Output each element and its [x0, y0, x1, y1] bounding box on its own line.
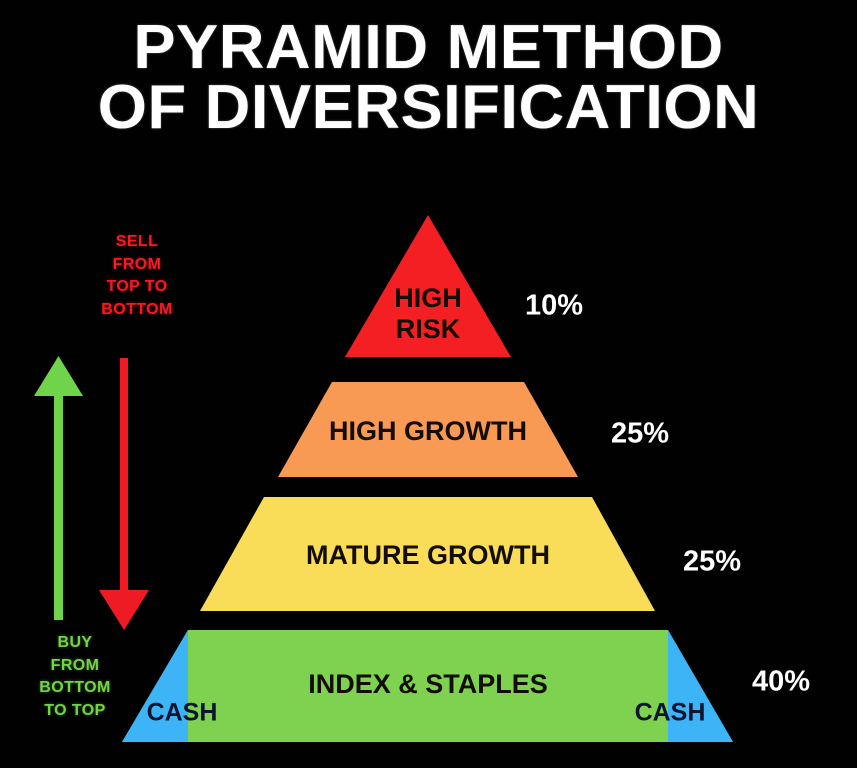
- tier-label-high-growth: HIGH GROWTH: [329, 416, 527, 446]
- tier-percent-index-staples: 40%: [752, 666, 810, 698]
- pyramid-tier-mature-growth[interactable]: MATURE GROWTH 25%: [200, 497, 741, 611]
- tier-percent-high-risk: 10%: [525, 290, 583, 322]
- cash-label-left: CASH: [147, 699, 218, 727]
- cash-label-right: CASH: [635, 699, 706, 727]
- tier-label-index-staples: INDEX & STAPLES: [308, 669, 548, 699]
- tier-percent-high-growth: 25%: [611, 418, 669, 450]
- tier-label-mature-growth: MATURE GROWTH: [306, 540, 550, 570]
- tier-label-high-risk-line-2: RISK: [396, 314, 461, 344]
- pyramid-tier-high-growth[interactable]: HIGH GROWTH 25%: [278, 382, 669, 477]
- pyramid-tier-high-risk[interactable]: HIGH RISK 10%: [345, 215, 583, 357]
- pyramid-tier-index-staples[interactable]: INDEX & STAPLES CASH CASH 40%: [122, 630, 810, 742]
- tier-label-high-risk-line-1: HIGH: [394, 283, 462, 313]
- pyramid-chart: HIGH RISK 10% HIGH GROWTH 25% MATURE GRO…: [0, 0, 857, 768]
- infographic-canvas: PYRAMID METHOD OF DIVERSIFICATION SELL F…: [0, 0, 857, 768]
- tier-percent-mature-growth: 25%: [683, 546, 741, 578]
